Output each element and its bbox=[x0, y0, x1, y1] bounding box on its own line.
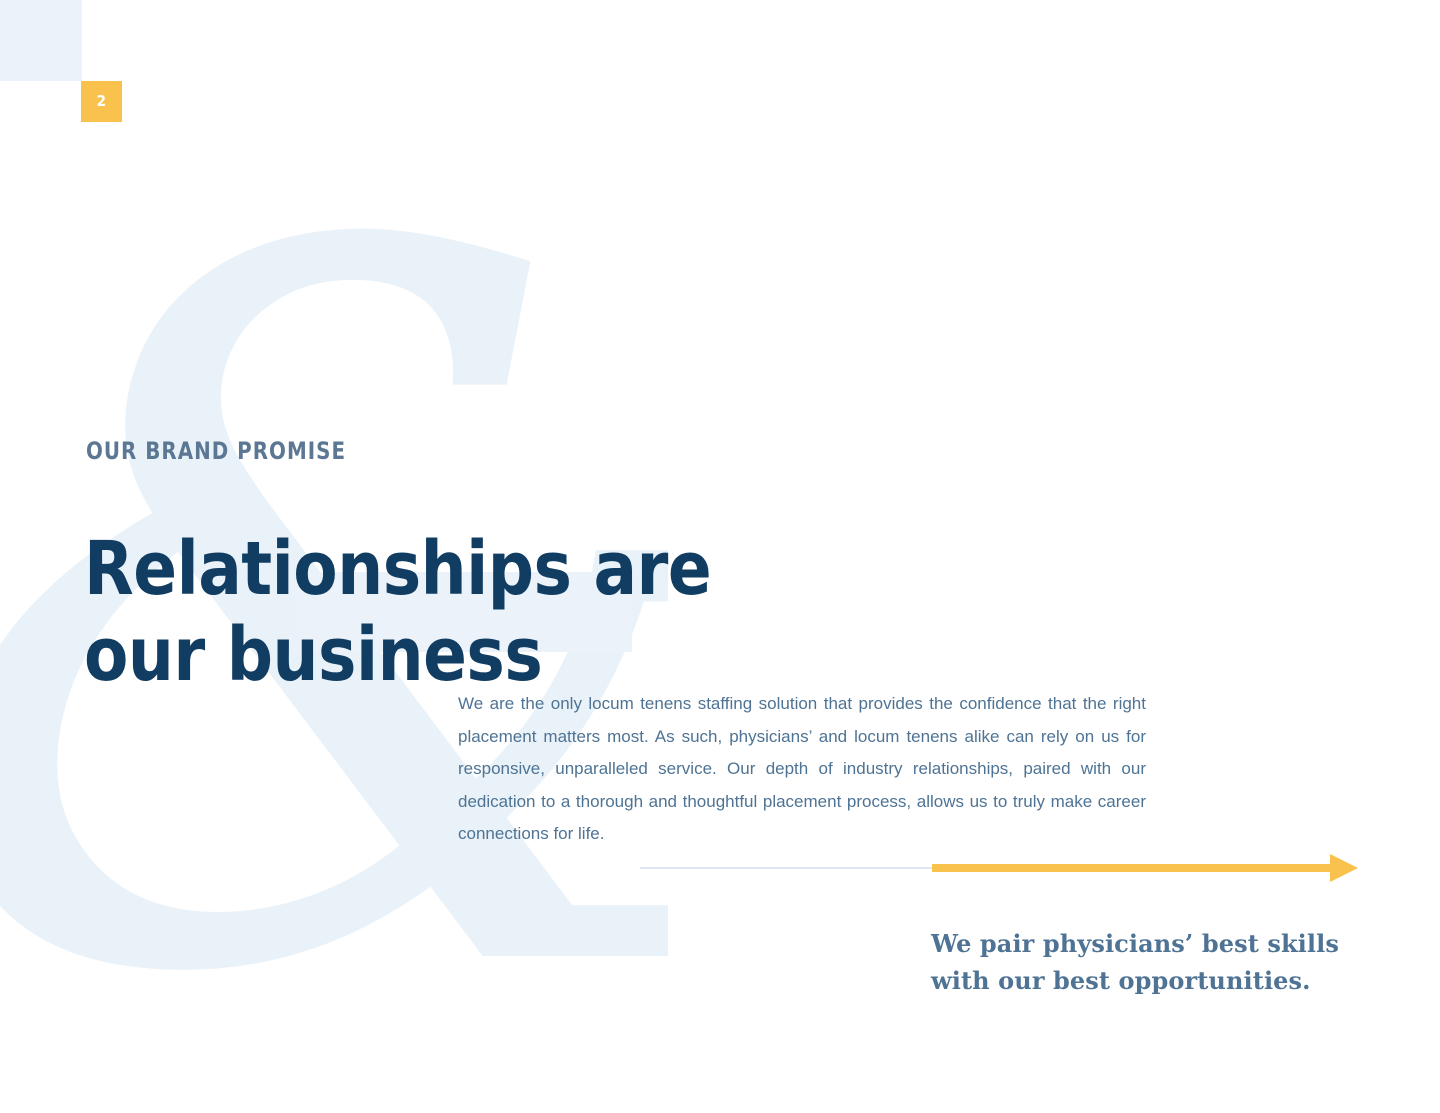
page-number-label: 2 bbox=[97, 94, 107, 109]
headline-line-1: Relationships are bbox=[84, 526, 821, 612]
slide-canvas: & 2 OUR BRAND PROMISE Relationships are … bbox=[0, 0, 1440, 1113]
body-paragraph: We are the only locum tenens staffing so… bbox=[458, 688, 1146, 851]
arrow-right-icon bbox=[640, 850, 1360, 886]
eyebrow-label: OUR BRAND PROMISE bbox=[86, 437, 346, 465]
pull-quote-line-1: We pair physicians’ best skills bbox=[931, 925, 1361, 962]
headline-line-2: our business bbox=[84, 612, 821, 698]
page-title: Relationships are our business bbox=[84, 526, 821, 698]
page-number-badge: 2 bbox=[81, 81, 122, 122]
arrow-head-triangle bbox=[1330, 854, 1358, 882]
pull-quote: We pair physicians’ best skills with our… bbox=[931, 925, 1361, 999]
pull-quote-line-2: with our best opportunities. bbox=[931, 962, 1361, 999]
corner-accent-block bbox=[0, 0, 82, 81]
